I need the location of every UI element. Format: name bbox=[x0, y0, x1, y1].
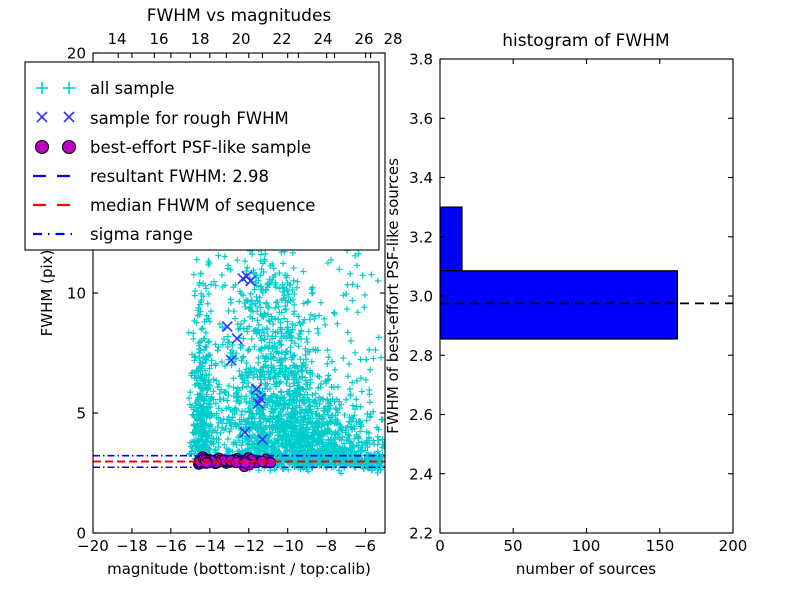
x-tick-label: 150 bbox=[646, 537, 675, 555]
x-tick-label: −20 bbox=[77, 537, 109, 555]
x-tick-label: −10 bbox=[272, 537, 304, 555]
x-tick-label: 200 bbox=[719, 537, 748, 555]
y-tick-label: 3.6 bbox=[409, 110, 433, 128]
scatter-title: FWHM vs magnitudes bbox=[147, 6, 332, 26]
top-tick-label: 26 bbox=[354, 30, 373, 48]
x-tick-label: −14 bbox=[194, 537, 226, 555]
histogram-ylabel: FWHM of best-effort PSF-like sources bbox=[384, 158, 402, 434]
scatter-xlabel: magnitude (bottom:isnt / top:calib) bbox=[107, 560, 371, 578]
matplotlib-figure: FWHM vs magnitudes 14 16 18 20 22 24 26 … bbox=[0, 0, 800, 600]
y-tick-label: 3.0 bbox=[409, 288, 433, 306]
x-tick-label: −16 bbox=[155, 537, 187, 555]
top-tick-label: 28 bbox=[383, 30, 402, 48]
top-tick-label: 20 bbox=[231, 30, 250, 48]
top-tick-label: 14 bbox=[107, 30, 126, 48]
y-tick-label: 2.4 bbox=[409, 465, 433, 483]
x-tick-label: −8 bbox=[315, 537, 337, 555]
histogram-y-ticklabels: 2.22.42.62.83.03.23.43.63.8 bbox=[409, 51, 433, 543]
y-tick-label: 2.8 bbox=[409, 347, 433, 365]
legend-label: all sample bbox=[90, 79, 175, 98]
legend-label: sample for rough FWHM bbox=[90, 109, 289, 128]
y-tick-label: 10 bbox=[67, 285, 86, 303]
top-tick-label: 24 bbox=[313, 30, 332, 48]
y-tick-label: 3.2 bbox=[409, 228, 433, 246]
histogram-title: histogram of FWHM bbox=[502, 31, 669, 51]
figure-canvas: FWHM vs magnitudes 14 16 18 20 22 24 26 … bbox=[0, 0, 800, 600]
histogram-xlabel: number of sources bbox=[516, 560, 656, 578]
y-tick-label: 2.6 bbox=[409, 406, 433, 424]
x-tick-label: 100 bbox=[572, 537, 601, 555]
legend-label: resultant FWHM: 2.98 bbox=[90, 167, 269, 186]
legend-label: median FHWM of sequence bbox=[90, 196, 315, 215]
scatter-ylabel: FWHM (pix) bbox=[38, 250, 56, 337]
y-tick-label: 3.4 bbox=[409, 169, 433, 187]
x-tick-label: 50 bbox=[503, 537, 522, 555]
y-tick-label: 3.8 bbox=[409, 51, 433, 69]
x-tick-label: 0 bbox=[435, 537, 445, 555]
top-tick-label: 18 bbox=[190, 30, 209, 48]
legend-label: sigma range bbox=[90, 225, 193, 244]
top-tick-label: 22 bbox=[272, 30, 291, 48]
x-tick-label: −6 bbox=[354, 537, 376, 555]
y-tick-label: 20 bbox=[67, 45, 86, 63]
x-tick-label: −18 bbox=[116, 537, 148, 555]
x-tick-label: −12 bbox=[233, 537, 265, 555]
scatter-legend[interactable]: all sample sample for rough FWHM best-ef… bbox=[25, 62, 379, 250]
top-tick-label: 16 bbox=[149, 30, 168, 48]
y-tick-label: 2.2 bbox=[409, 525, 433, 543]
legend-label: best-effort PSF-like sample bbox=[90, 138, 311, 157]
y-tick-label: 5 bbox=[76, 405, 86, 423]
